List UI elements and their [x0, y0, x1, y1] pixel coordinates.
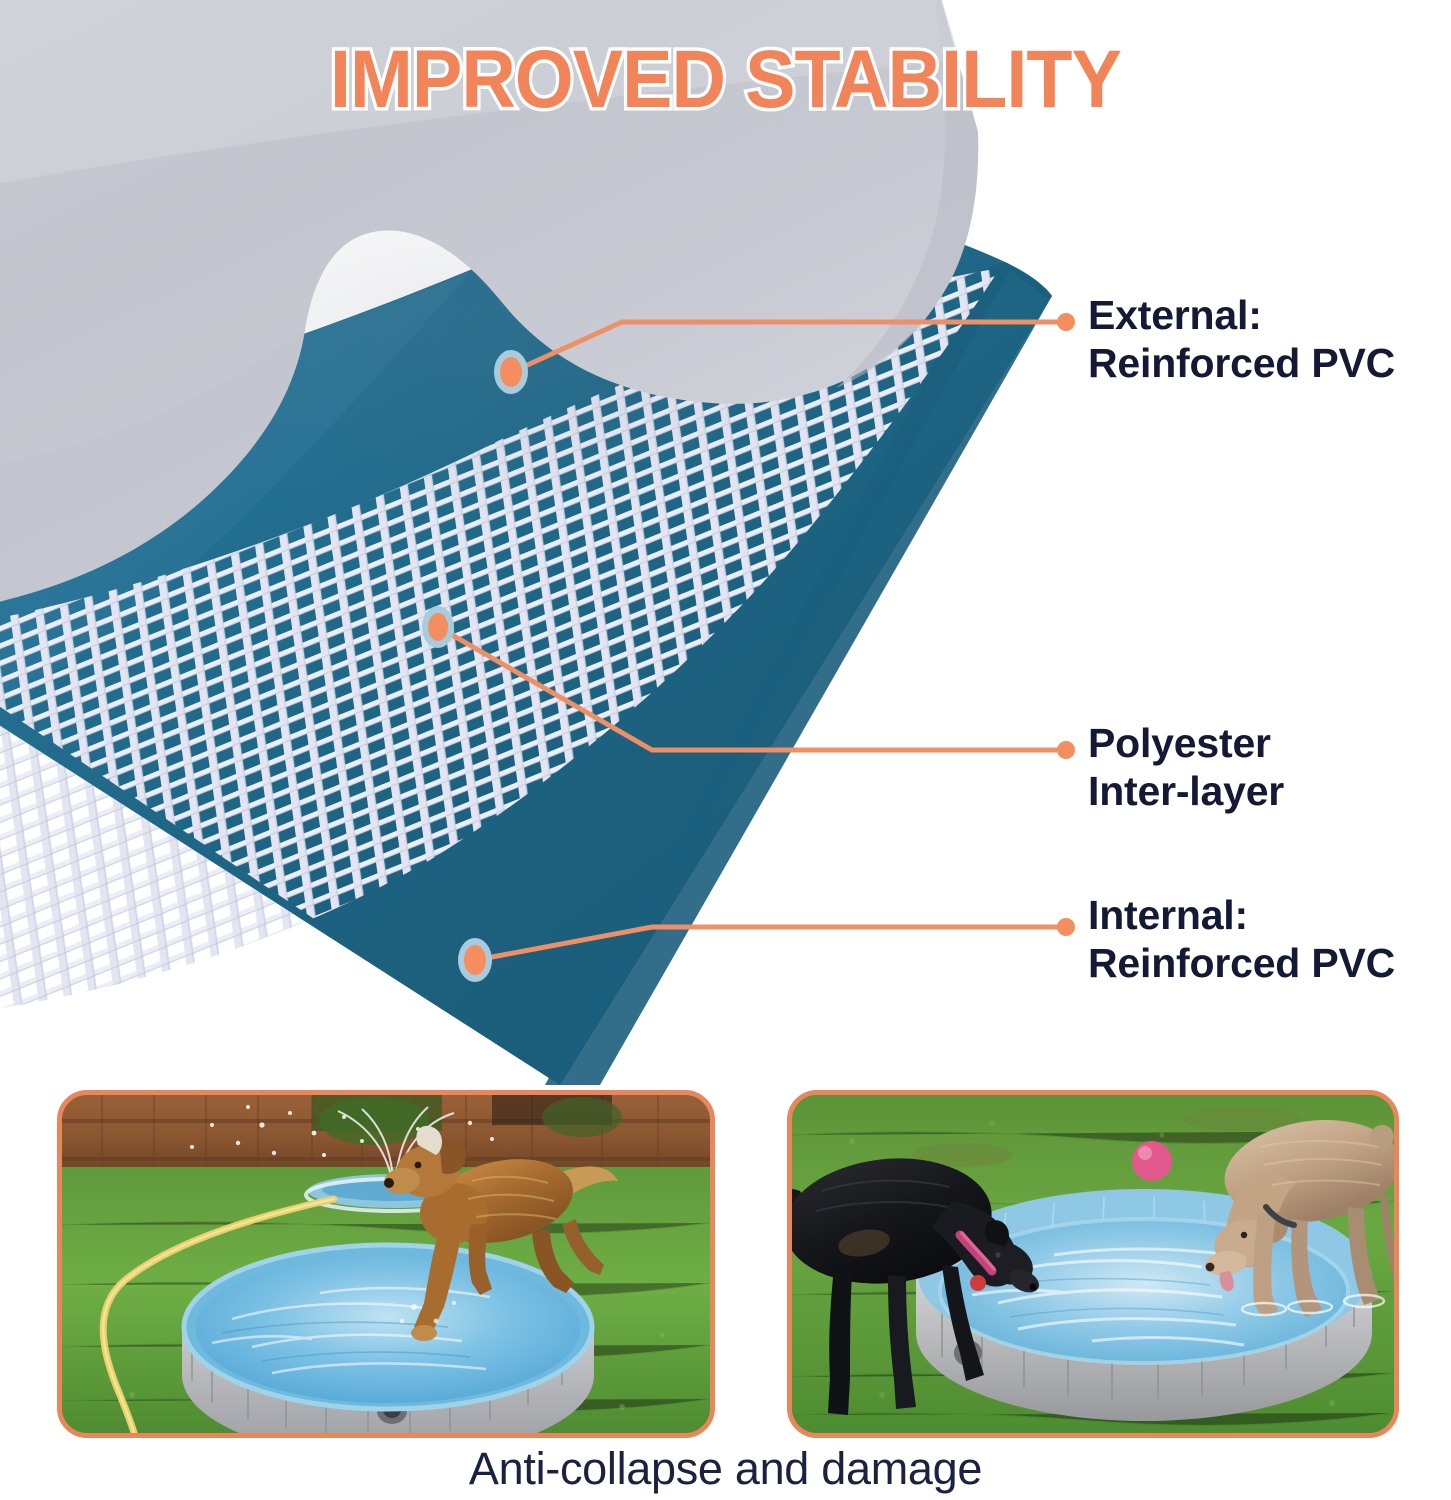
callout-label-external: External: Reinforced PVC: [1088, 292, 1395, 387]
anchor-dot-external: [494, 350, 528, 394]
callout-label-internal: Internal: Reinforced PVC: [1088, 892, 1395, 987]
photo-caption: Anti-collapse and damage: [0, 1443, 1451, 1495]
product-photo-row: [0, 1090, 1451, 1440]
right-photo: [787, 1090, 1399, 1438]
left-photo: [57, 1090, 715, 1438]
terminal-dot-polyester: [1057, 741, 1075, 759]
callout-label-polyester: Polyester Inter-layer: [1088, 720, 1284, 815]
infographic-page: IMPROVED STABILITY External: Reinforced …: [0, 0, 1451, 1500]
right-photo-scene: [792, 1095, 1394, 1433]
anchor-dot-internal: [458, 938, 492, 982]
page-title: IMPROVED STABILITY: [58, 38, 1393, 122]
terminal-dot-internal: [1057, 918, 1075, 936]
callout-terminal-dots: [1057, 313, 1075, 936]
anchor-dot-polyester: [422, 606, 454, 648]
left-photo-scene: [62, 1095, 710, 1433]
terminal-dot-external: [1057, 313, 1075, 331]
